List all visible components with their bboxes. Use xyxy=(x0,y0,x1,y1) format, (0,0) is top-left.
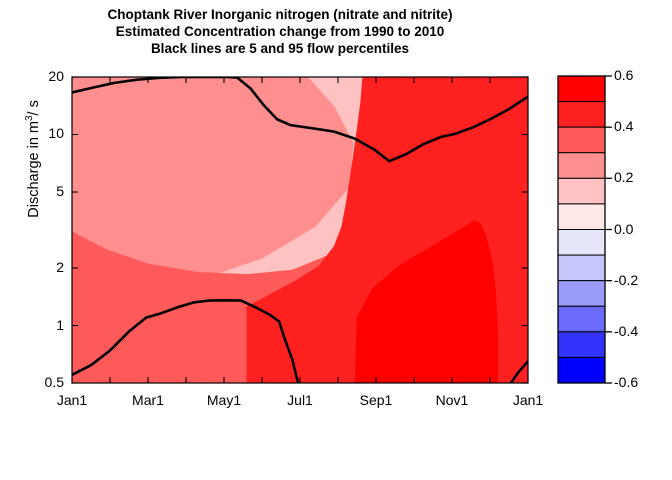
colorbar-band xyxy=(558,306,605,332)
contour-plot-canvas xyxy=(0,0,672,480)
colorbar-tick-label: -0.4 xyxy=(614,323,638,339)
x-axis-tick-label: Jan1 xyxy=(488,392,568,408)
colorbar-tick-label: -0.6 xyxy=(614,374,638,390)
colorbar-band xyxy=(558,357,605,383)
y-axis-tick-label: 10 xyxy=(14,125,64,141)
colorbar-band xyxy=(558,153,605,179)
y-axis-tick-label: 2 xyxy=(14,259,64,275)
x-axis-tick-label: Jan1 xyxy=(32,392,112,408)
contour-field xyxy=(72,77,528,383)
colorbar-band xyxy=(558,332,605,358)
x-axis-tick-label: May1 xyxy=(184,392,264,408)
colorbar-tick-label: 0.2 xyxy=(614,169,633,185)
y-axis-tick-label: 1 xyxy=(14,317,64,333)
y-axis-title-exponent: 3 xyxy=(24,115,35,121)
x-axis-tick-label: Jul1 xyxy=(260,392,340,408)
y-axis-title: Discharge in m3/ s xyxy=(24,64,42,254)
colorbar-band xyxy=(558,102,605,128)
colorbar-tick-label: 0.6 xyxy=(614,67,633,83)
y-axis-title-tail: / s xyxy=(26,100,42,115)
colorbar-band xyxy=(558,127,605,153)
colorbar-band xyxy=(558,76,605,102)
colorbar-tick-label: 0.0 xyxy=(614,221,633,237)
x-axis-tick-label: Mar1 xyxy=(108,392,188,408)
colorbar-tick-label: 0.4 xyxy=(614,118,633,134)
colorbar-band xyxy=(558,281,605,307)
colorbar-band xyxy=(558,255,605,281)
colorbar xyxy=(558,76,612,383)
colorbar-band xyxy=(558,178,605,204)
y-axis-tick-label: 20 xyxy=(14,68,64,84)
colorbar-band xyxy=(558,230,605,256)
y-axis-tick-label: 0.5 xyxy=(14,374,64,390)
colorbar-band xyxy=(558,204,605,230)
contour-plot: Discharge in m3/ s 0.51251020 Jan1Mar1Ma… xyxy=(0,0,672,480)
x-axis-tick-label: Nov1 xyxy=(412,392,492,408)
colorbar-tick-label: -0.2 xyxy=(614,272,638,288)
x-axis-tick-label: Sep1 xyxy=(336,392,416,408)
y-axis-tick-label: 5 xyxy=(14,183,64,199)
